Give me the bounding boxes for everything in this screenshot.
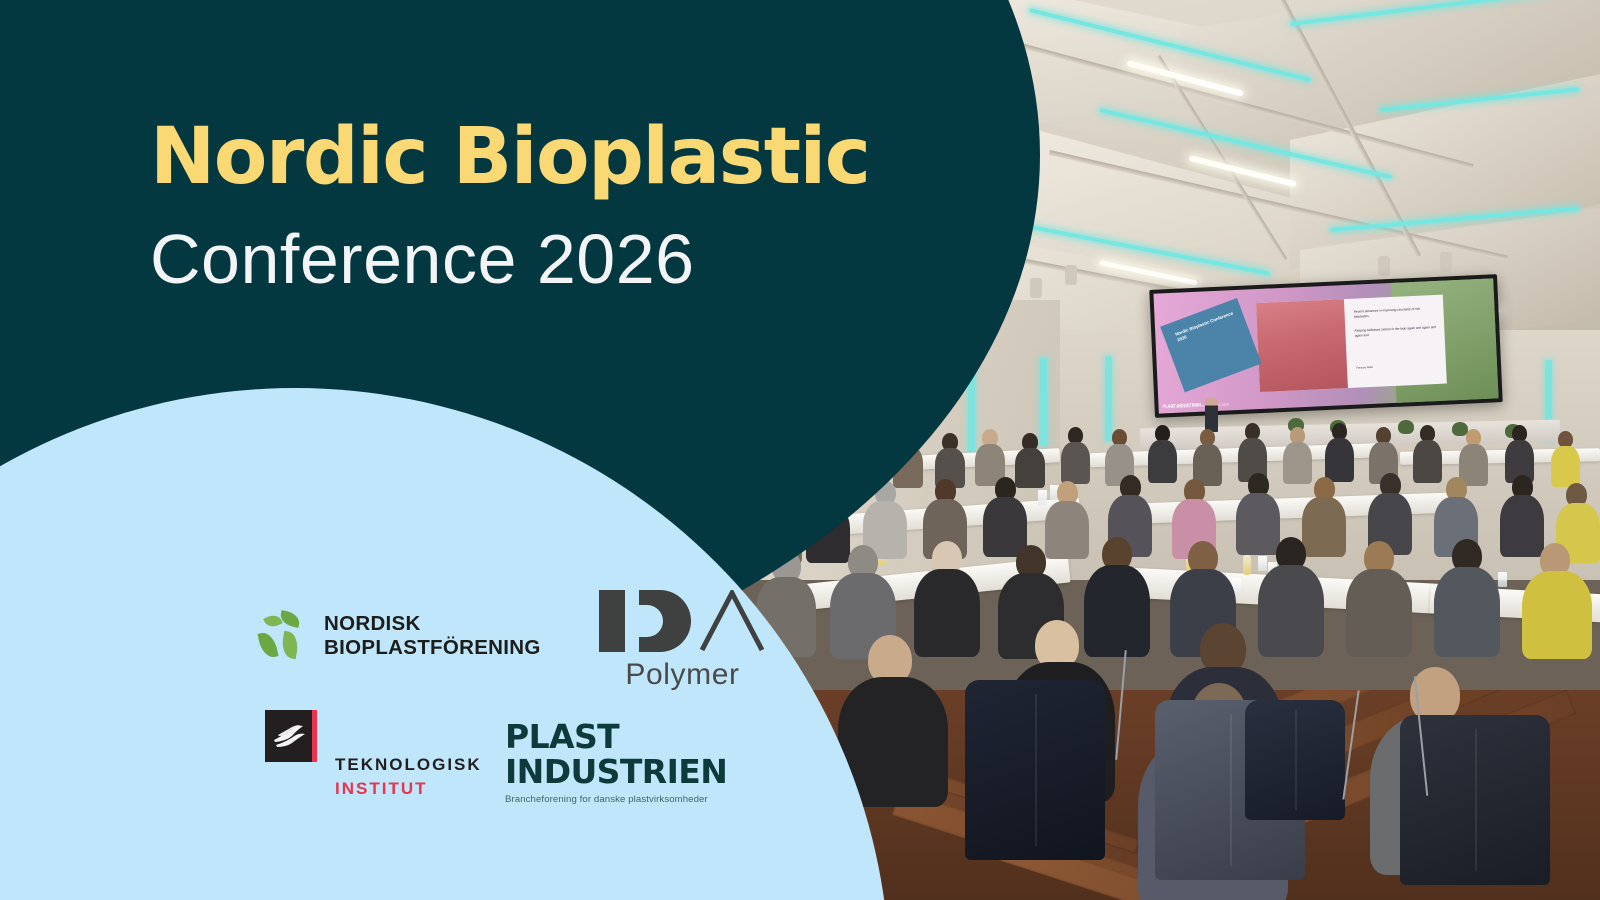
person-body <box>1325 438 1354 482</box>
person-body <box>1015 448 1045 488</box>
partner-logos: NORDISK BIOPLASTFÖRENING Polymer <box>250 585 770 825</box>
slide-portrait <box>1256 300 1348 393</box>
slide-badge-text: Nordic Bioplastic Conference 2026 <box>1174 310 1238 344</box>
logo-nordisk-line1: NORDISK <box>324 612 541 636</box>
person-body <box>1500 495 1544 557</box>
logo-ti-line2: INSTITUT <box>335 779 482 799</box>
ida-a-shape <box>699 590 765 652</box>
slide-author: Francois Aribo <box>1356 363 1438 371</box>
presentation-screen: Recent advances in improving circularity… <box>1149 274 1502 418</box>
logo-plast-line2: INDUSTRIEN <box>505 755 727 790</box>
person-body <box>914 569 980 657</box>
ti-bird-icon <box>265 710 317 762</box>
logo-ti-text: TEKNOLOGISK INSTITUT <box>335 755 482 799</box>
person-body <box>1061 442 1090 484</box>
ida-d-shape <box>639 590 691 652</box>
person-body <box>1283 442 1312 484</box>
person-body <box>1434 567 1500 657</box>
slide-badge: Nordic Bioplastic Conference 2026 <box>1160 298 1261 392</box>
backpack <box>1245 700 1345 820</box>
poster-canvas: Recent advances in improving circularity… <box>0 0 1600 900</box>
person-body <box>1551 446 1580 487</box>
coat-on-chair <box>965 680 1105 860</box>
recycling-leaves-icon <box>258 610 312 662</box>
person-body <box>1302 497 1346 557</box>
title-block: Nordic Bioplastic Conference 2026 <box>150 118 910 294</box>
logo-nordisk-text: NORDISK BIOPLASTFÖRENING <box>324 612 541 660</box>
spotlight <box>1030 278 1042 298</box>
person-body <box>1148 440 1177 483</box>
person-body <box>1258 565 1324 657</box>
logo-teknologisk-institut[interactable]: TEKNOLOGISK INSTITUT <box>265 710 317 762</box>
slide-image: Recent advances in improving circularity… <box>1153 278 1498 413</box>
logo-plast-tagline: Brancheforening for danske plastvirksomh… <box>505 794 727 805</box>
ida-monogram-icon <box>595 590 770 652</box>
spotlight <box>1440 252 1452 272</box>
person-body <box>1346 569 1412 657</box>
logo-ti-line1: TEKNOLOGISK <box>335 755 482 775</box>
spotlight <box>1378 256 1390 276</box>
slide-text-1: Recent advances in improving circularity… <box>1354 306 1437 320</box>
logo-nordisk-line2: BIOPLASTFÖRENING <box>324 636 541 660</box>
person-body <box>1045 501 1089 559</box>
person-body <box>1522 571 1592 659</box>
logo-ida-polymer[interactable]: Polymer <box>595 590 770 692</box>
ti-red-bar <box>312 710 317 762</box>
title-line-2: Conference 2026 <box>150 224 910 294</box>
ida-i-bar <box>599 590 625 652</box>
title-line-1: Nordic Bioplastic <box>150 118 910 196</box>
person-body <box>1084 565 1150 657</box>
person-body <box>1413 440 1442 483</box>
spotlight <box>1065 265 1077 285</box>
logo-nordisk-bioplastforening[interactable]: NORDISK BIOPLASTFÖRENING <box>258 610 541 662</box>
logo-plast-industrien[interactable]: PLAST INDUSTRIEN Brancheforening for dan… <box>505 720 727 805</box>
logo-ida-word: Polymer <box>595 658 770 692</box>
person-body <box>1236 493 1280 555</box>
logo-plast-line1: PLAST <box>505 720 727 755</box>
slide-text-2: Keeping biobased carbon in the loop agai… <box>1354 325 1437 339</box>
